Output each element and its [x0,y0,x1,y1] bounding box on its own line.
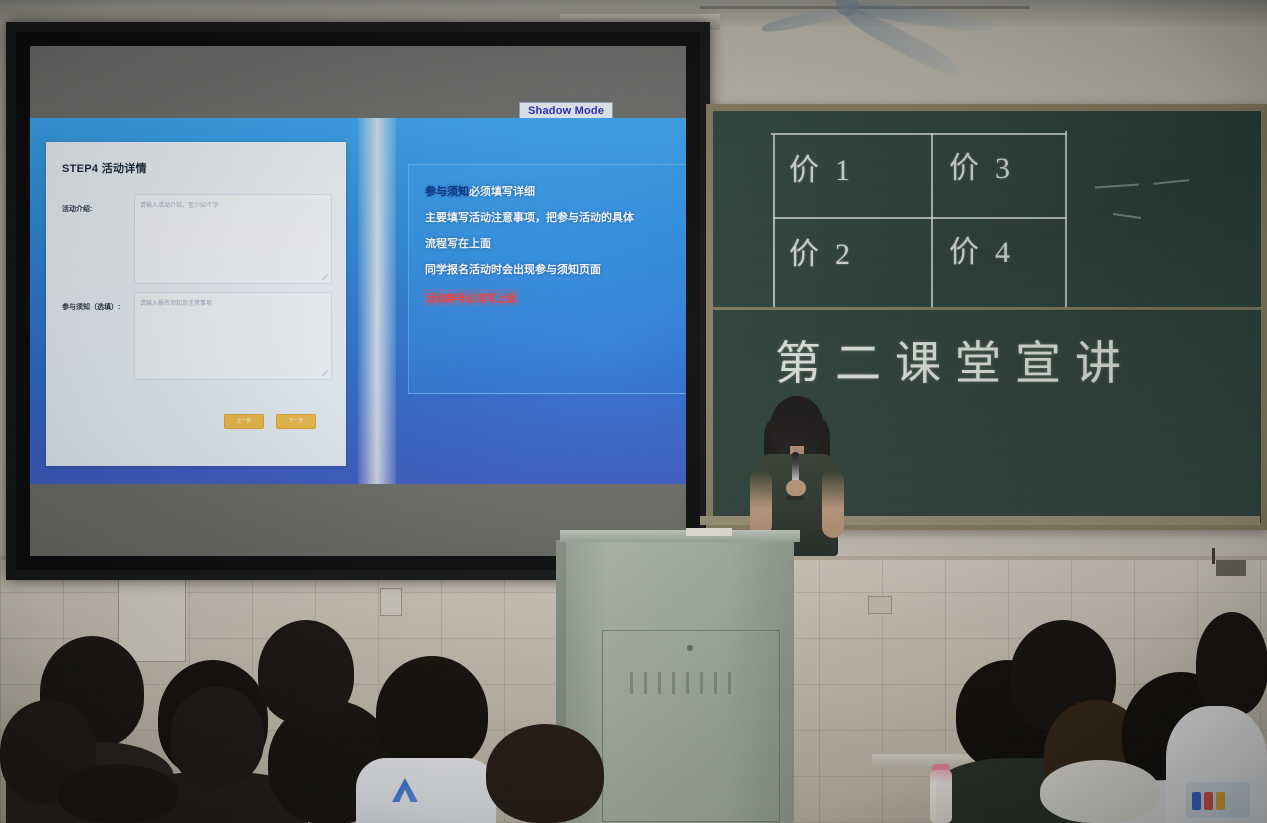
lectern-panel [602,630,780,822]
projected-slide: STEP4 活动详情 活动介绍: 请输入活动介绍，至少50个字 参与须知（选填）… [30,118,686,484]
audience-head [376,656,488,772]
audience-white-tshirt [356,758,496,823]
presenter-arm [822,470,844,538]
tshirt-print-swatch [1216,792,1225,810]
water-bottle [930,770,952,823]
wall-notice-board [118,568,186,662]
participation-notes-placeholder: 请输入报名须知及注意事项 [140,298,212,307]
slide-form-card: STEP4 活动详情 活动介绍: 请输入活动介绍，至少50个字 参与须知（选填）… [46,142,346,466]
chalk-cell-1: 价1 [789,145,866,189]
blackboard-divider [713,307,1261,310]
screen-surface: Shadow Mode STEP4 活动详情 活动介绍: 请输入活动介绍，至少5… [30,46,686,556]
audience-shoulders [1040,760,1160,823]
chalk-grid-line [771,133,1067,135]
info-warning-text: 活动群号必须写上面 [423,289,519,306]
tshirt-print-swatch [1192,792,1201,810]
chalk-grid-line [1065,131,1067,309]
audience-head [486,724,604,823]
wall-mounted-box [1216,560,1246,576]
audience-head [1196,612,1267,716]
chalk-cell-3: 价2 [789,229,866,273]
form-title: STEP4 活动详情 [62,160,147,176]
chalk-cell-4: 价4 [949,227,1026,271]
resize-handle-icon[interactable] [322,274,328,280]
wall-cable [1212,548,1215,564]
chalk-cell-2: 价3 [949,143,1026,187]
info-line-4: 同学报名活动时会出现参与须知页面 [425,261,601,277]
lectern-vents [630,672,742,694]
chalk-smudge [1095,183,1139,188]
classroom-photo: Shadow Mode STEP4 活动详情 活动介绍: 请输入活动介绍，至少5… [0,0,1267,823]
blackboard-title: 第二课堂宣讲 [775,327,1135,393]
info-line-1-rest: 必须填写详细 [469,186,535,198]
chalk-smudge [1153,179,1189,185]
projection-screen: Shadow Mode STEP4 活动详情 活动介绍: 请输入活动介绍，至少5… [6,22,710,580]
chalk-grid-line [931,133,933,309]
chalk-grid-line [773,217,1067,219]
audience-head [58,764,178,823]
resize-handle-icon[interactable] [322,370,328,376]
presenter-arm [750,470,772,536]
lectern-top [560,530,800,542]
slide-info-panel: 参与须知必须填写详细 主要填写活动注意事项，把参与活动的具体 流程写在上面 同学… [408,164,686,394]
wall-socket [380,588,402,616]
form-label-participation-notes: 参与须知（选填）: [62,302,120,312]
info-line-2: 主要填写活动注意事项，把参与活动的具体 [425,209,634,225]
info-line-1: 参与须知必须填写详细 [425,183,535,199]
audience-head [258,620,354,724]
form-label-activity-intro: 活动介绍: [62,204,92,214]
lectern-knob[interactable] [687,645,693,651]
info-line-3: 流程写在上面 [425,235,491,251]
audience-head [170,686,264,786]
chalk-smudge [1113,213,1141,219]
screen-seam-highlight [358,118,396,484]
tshirt-print-swatch [1204,792,1213,810]
lectern-paper [686,528,732,536]
presenter-wristband [786,496,804,500]
info-line-1-emphasis: 参与须知 [425,186,469,198]
chalk-grid-line [773,135,775,307]
wall-socket [868,596,892,614]
next-step-button[interactable]: 下一步 [276,414,316,429]
prev-step-button[interactable]: 上一步 [224,414,264,429]
activity-intro-placeholder: 请输入活动介绍，至少50个字 [140,200,219,209]
presenter-hand [786,480,806,496]
